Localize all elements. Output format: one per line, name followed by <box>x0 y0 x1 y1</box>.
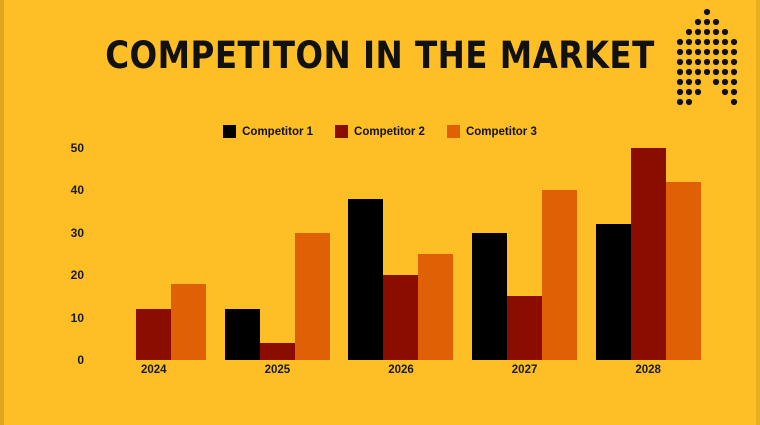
bar-group-2024 <box>92 148 216 360</box>
y-axis-tick-0: 0 <box>77 353 84 367</box>
slide-left-edge-strip <box>0 0 4 425</box>
page-title: COMPETITON IN THE MARKET <box>46 34 715 78</box>
bar-competitor-3-2026[interactable] <box>418 254 453 360</box>
y-axis: 01020304050 <box>48 148 84 360</box>
legend-label-competitor-1: Competitor 1 <box>242 126 313 138</box>
y-axis-tick-10: 10 <box>71 311 84 325</box>
bar-competitor-2-2026[interactable] <box>383 275 418 360</box>
bar-competitor-1-2026[interactable] <box>348 199 383 360</box>
y-axis-tick-20: 20 <box>71 268 84 282</box>
halftone-dots-arrow-logo-icon <box>670 6 744 110</box>
legend-swatch-competitor-1 <box>223 125 236 138</box>
legend-swatch-competitor-2 <box>335 125 348 138</box>
legend-swatch-competitor-3 <box>447 125 460 138</box>
chart-legend: Competitor 1 Competitor 2 Competitor 3 <box>0 125 760 138</box>
bar-group-2028 <box>586 148 710 360</box>
legend-item-competitor-2[interactable]: Competitor 2 <box>335 125 425 138</box>
bar-groups <box>92 148 710 360</box>
legend-label-competitor-3: Competitor 3 <box>466 126 537 138</box>
y-axis-tick-50: 50 <box>71 141 84 155</box>
bar-competitor-2-2025[interactable] <box>260 343 295 360</box>
bar-competitor-1-2027[interactable] <box>472 233 507 360</box>
x-axis-tick-2026: 2026 <box>339 364 463 376</box>
legend-item-competitor-1[interactable]: Competitor 1 <box>223 125 313 138</box>
bar-competitor-1-2025[interactable] <box>225 309 260 360</box>
slide-right-edge-strip <box>756 0 760 425</box>
y-axis-tick-40: 40 <box>71 183 84 197</box>
bar-competitor-2-2024[interactable] <box>136 309 171 360</box>
bar-group-2027 <box>463 148 587 360</box>
bar-competitor-3-2024[interactable] <box>171 284 206 360</box>
x-axis-tick-2027: 2027 <box>463 364 587 376</box>
bar-group-2025 <box>216 148 340 360</box>
slide-canvas: COMPETITON IN THE MARKET <box>0 0 760 425</box>
x-axis-tick-2024: 2024 <box>92 364 216 376</box>
bar-competitor-3-2028[interactable] <box>666 182 701 360</box>
legend-label-competitor-2: Competitor 2 <box>354 126 425 138</box>
y-axis-tick-30: 30 <box>71 226 84 240</box>
bar-competitor-2-2028[interactable] <box>631 148 666 360</box>
bar-group-2026 <box>339 148 463 360</box>
bar-competitor-1-2028[interactable] <box>596 224 631 360</box>
bar-competitor-3-2025[interactable] <box>295 233 330 360</box>
x-axis-tick-2028: 2028 <box>586 364 710 376</box>
x-axis-tick-2025: 2025 <box>216 364 340 376</box>
x-axis: 20242025202620272028 <box>92 364 710 376</box>
bar-competitor-2-2027[interactable] <box>507 296 542 360</box>
legend-item-competitor-3[interactable]: Competitor 3 <box>447 125 537 138</box>
bar-competitor-3-2027[interactable] <box>542 190 577 360</box>
